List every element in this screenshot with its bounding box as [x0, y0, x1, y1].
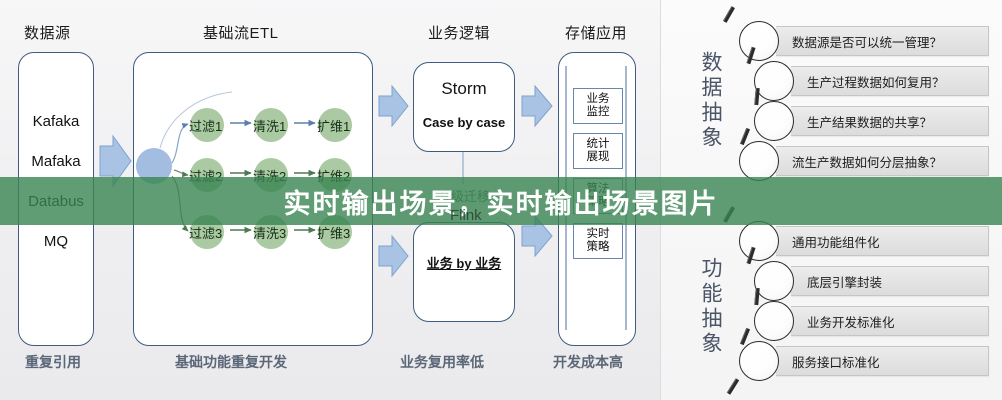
feature-bar-1[interactable]: 通用功能组件化 [776, 226, 989, 256]
datasource-item-mafaka: Mafaka [19, 153, 93, 170]
question-bar-4[interactable]: 流生产数据如何分层抽象？ [776, 146, 989, 176]
feature-bar-3[interactable]: 业务开发标准化 [791, 306, 989, 336]
vertical-label-function-abstraction: 功能抽象 [695, 232, 725, 382]
storage-chip-1: 业务 监控 [573, 88, 623, 124]
storage-chip-4: 实时 策略 [573, 223, 623, 259]
bullet-stem-7 [754, 288, 759, 305]
section-title-etl: 基础流ETL [203, 22, 279, 43]
logic-engine-flink: Flink [450, 207, 482, 224]
logic-box-flink: 业务 by 业务 [413, 222, 515, 322]
question-text-2: 生产过程数据如何复用？ [791, 72, 945, 91]
storage-chip-4-line2: 策略 [587, 241, 610, 254]
etl-label-clean-3: 清洗3 [253, 223, 286, 242]
diagram-canvas: 数据源 基础流ETL 业务逻辑 存储应用 Kafaka Mafaka Datab… [0, 0, 1002, 400]
question-text-4: 流生产数据如何分层抽象？ [776, 152, 942, 171]
caption-datasource: 重复引用 [25, 352, 81, 372]
logic-mode-storm: Case by case [414, 115, 514, 130]
logic-engine-storm: Storm [414, 79, 514, 99]
bullet-ball-7 [754, 301, 794, 341]
bullet-stem-8b [727, 378, 739, 395]
etl-label-filter-1: 过滤1 [189, 116, 222, 135]
bullet-stem-3 [754, 88, 759, 105]
caption-etl: 基础功能重复开发 [175, 352, 287, 372]
storage-chip-4-line1: 实时 [587, 228, 610, 241]
caption-logic: 业务复用率低 [400, 352, 484, 372]
section-title-datasource: 数据源 [24, 22, 71, 43]
etl-label-clean-1: 清洗1 [253, 116, 286, 135]
storage-chip-2-line2: 展现 [587, 151, 610, 164]
feature-text-1: 通用功能组件化 [776, 232, 880, 251]
section-title-storage: 存储应用 [565, 22, 627, 43]
storage-chip-1-line2: 监控 [587, 106, 610, 119]
feature-text-3: 业务开发标准化 [791, 312, 895, 331]
section-title-logic: 业务逻辑 [428, 22, 490, 43]
watermark-banner-text: 实时输出场景，实时输出场景图片 [284, 182, 719, 221]
bullet-stem-1 [723, 6, 735, 23]
etl-label-filter-3: 过滤3 [189, 223, 222, 242]
etl-label-expand-1: 扩维1 [317, 116, 350, 135]
bullet-ball-3 [754, 101, 794, 141]
feature-bar-2[interactable]: 底层引擎封装 [791, 266, 989, 296]
storage-chip-2: 统计 展现 [573, 133, 623, 169]
datasource-item-mq: MQ [19, 233, 93, 250]
question-bar-3[interactable]: 生产结果数据的共享？ [791, 106, 989, 136]
question-text-1: 数据源是否可以统一管理？ [776, 32, 942, 51]
bullet-ball-2 [754, 61, 794, 101]
bullet-ball-1 [739, 21, 779, 61]
bullet-ball-8 [739, 341, 779, 381]
block-arrow-logic-to-storage [522, 86, 552, 256]
bullet-ball-4 [739, 141, 779, 181]
storage-chip-1-line1: 业务 [587, 93, 610, 106]
caption-storage: 开发成本高 [553, 352, 623, 372]
question-text-3: 生产结果数据的共享？ [791, 112, 932, 131]
datasource-item-kafaka: Kafaka [19, 113, 93, 130]
watermark-banner: 实时输出场景，实时输出场景图片 [0, 177, 1002, 225]
question-bar-1[interactable]: 数据源是否可以统一管理？ [776, 26, 989, 56]
feature-bar-4[interactable]: 服务接口标准化 [776, 346, 989, 376]
feature-text-4: 服务接口标准化 [776, 352, 880, 371]
bullet-ball-6 [754, 261, 794, 301]
logic-box-storm: Storm Case by case [413, 62, 515, 152]
feature-text-2: 底层引擎封装 [791, 272, 882, 291]
bullet-ball-5 [739, 221, 779, 261]
storage-chip-2-line1: 统计 [587, 138, 610, 151]
question-bar-2[interactable]: 生产过程数据如何复用？ [791, 66, 989, 96]
logic-mode-flink: 业务 by 业务 [414, 253, 514, 272]
vertical-label-data-abstraction: 数据抽象 [695, 26, 725, 176]
etl-label-expand-3: 扩维3 [317, 223, 350, 242]
